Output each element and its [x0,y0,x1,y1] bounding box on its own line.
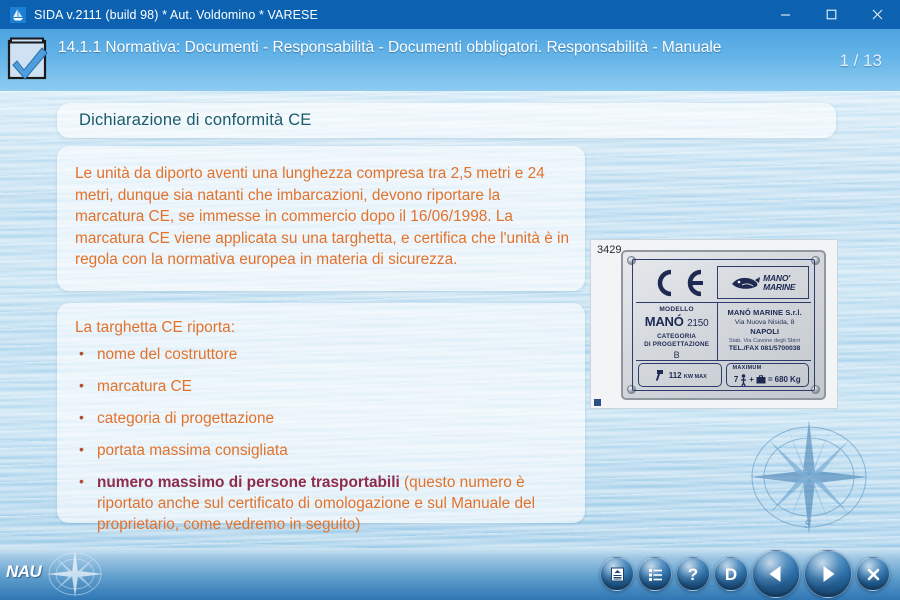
categoria-label: CATEGORIA DI PROGETTAZIONE [636,333,717,348]
categoria-label-line2: DI PROGETTAZIONE [644,341,709,348]
person-icon [740,374,747,386]
list-icon [647,566,664,583]
model-number: 2150 [687,318,708,329]
minimize-icon[interactable] [762,0,808,29]
brand-line-2: MARINE [763,282,795,292]
list-item-highlighted: numero massimo di persone trasportabili … [75,472,571,535]
brand-name: MANO' MARINE [763,274,795,292]
maximum-box: MAXIMUM 7 + [726,363,810,387]
triangle-right-icon [817,563,839,585]
ce-marking-icon [645,268,707,298]
power-box: 112 KW MAX [638,363,722,387]
plate-row-top: MANO' MARINE [636,263,811,302]
company-cell: MANÓ MARINE S.r.l. Via Nuova Nisida, 8 N… [718,303,811,360]
list-item: portata massima consigliata [75,440,571,461]
slide-list-panel: La targhetta CE riporta: nome del costru… [57,303,585,523]
slide-paragraph-panel: Le unità da diporto aventi una lunghezza… [57,146,585,291]
list-item-label: portata massima consigliata [97,442,288,459]
company-name: MANÓ MARINE S.r.l. [718,308,811,317]
triangle-left-icon [765,563,787,585]
list-item-label: marcatura CE [97,378,192,395]
modello-label: MODELLO [636,306,717,313]
list-item-bold-label: numero massimo di persone trasportabili [97,474,400,491]
company-telephone: TEL./FAX 081/5700038 [718,345,811,352]
categoria-label-line1: CATEGORIA [657,333,696,340]
maximum-label: MAXIMUM [733,365,762,371]
luggage-icon [756,375,766,384]
page-indicator: 1 / 13 [839,29,900,71]
photo-corner-mark-icon [594,399,601,406]
compass-rose-icon [42,548,108,600]
max-persons-value: 7 [734,375,738,384]
categoria-value: B [636,350,717,360]
model-cell: MODELLO MANÓ 2150 CATEGORIA DI PROGETTAZ… [636,303,718,360]
slide-title: Dichiarazione di conformità CE [57,111,312,130]
max-total-value: 680 [775,375,788,384]
model-name: MANÓ [645,314,684,329]
dictionary-button[interactable]: D [714,557,748,591]
brand-logo-cell: MANO' MARINE [717,266,810,299]
application-window: SIDA v.2111 (build 98) * Aut. Voldomino … [0,0,900,600]
fish-logo-icon [730,275,760,291]
close-icon[interactable] [854,0,900,29]
window-title: SIDA v.2111 (build 98) * Aut. Voldomino … [34,8,318,22]
engine-icon [653,369,666,382]
list-item: categoria di progettazione [75,408,571,429]
list-item: marcatura CE [75,376,571,397]
previous-button[interactable] [752,550,800,598]
slide-content: S Dichiarazione di conformità CE Le unit… [0,91,900,548]
boat-icon [10,7,26,23]
help-button[interactable]: ? [676,557,710,591]
page-title: 14.1.1 Normativa: Documenti - Responsabi… [58,29,839,58]
plus-sign: + [749,375,754,384]
index-list-button[interactable] [638,557,672,591]
plate-row-middle: MODELLO MANÓ 2150 CATEGORIA DI PROGETTAZ… [636,302,811,360]
lesson-header: 14.1.1 Normativa: Documenti - Responsabi… [0,29,900,91]
navigation-toolbar: ? D [600,548,890,600]
maximize-icon[interactable] [808,0,854,29]
document-button[interactable] [600,557,634,591]
list-item-label: nome del costruttore [97,346,237,363]
plate-inner-frame: MANO' MARINE MODELLO MANÓ 2150 [632,259,815,391]
company-plant: Stab. Via Cavone degli Sbirri [718,338,811,344]
max-unit: Kg [790,375,801,384]
power-value: 112 [669,371,682,380]
power-unit: KW MAX [684,374,707,380]
equals-sign: = [768,375,773,384]
list-item-label: categoria di progettazione [97,410,274,427]
ce-mark-cell [636,263,717,302]
maximum-value-row: 7 + = 68 [734,374,801,386]
company-city: NAPOLI [718,327,811,336]
company-address: Via Nuova Nisida, 8 [718,319,811,326]
question-mark-icon: ? [688,566,698,583]
model-name-value: MANÓ 2150 [636,314,717,329]
slide-title-panel: Dichiarazione di conformità CE [57,103,836,138]
close-button[interactable] [856,557,890,591]
plate-row-bottom: 112 KW MAX MAXIMUM 7 [636,360,811,387]
document-icon [609,566,626,583]
list-item: nome del costruttore [75,344,571,365]
bottom-toolbar: NAU [0,548,900,600]
list-lead-text: La targhetta CE riporta: [75,317,571,339]
title-bar: SIDA v.2111 (build 98) * Aut. Voldomino … [0,0,900,29]
bullet-list: nome del costruttore marcatura CE catego… [75,344,571,535]
x-icon [865,566,882,583]
ce-plate-photo: 3429 [590,239,838,409]
notepad-check-icon [6,35,50,81]
ce-plate: MANO' MARINE MODELLO MANÓ 2150 [621,250,826,400]
nau-logo: NAU [0,548,118,600]
compass-rose-watermark-icon: S [737,412,882,542]
plate-id-label: 3429 [597,244,621,256]
svg-text:S: S [804,518,812,531]
slide-paragraph: Le unità da diporto aventi una lunghezza… [75,163,569,271]
nau-logo-text: NAU [6,562,41,582]
power-value-label: 112 KW MAX [669,371,707,380]
letter-d-icon: D [725,566,737,583]
next-button[interactable] [804,550,852,598]
